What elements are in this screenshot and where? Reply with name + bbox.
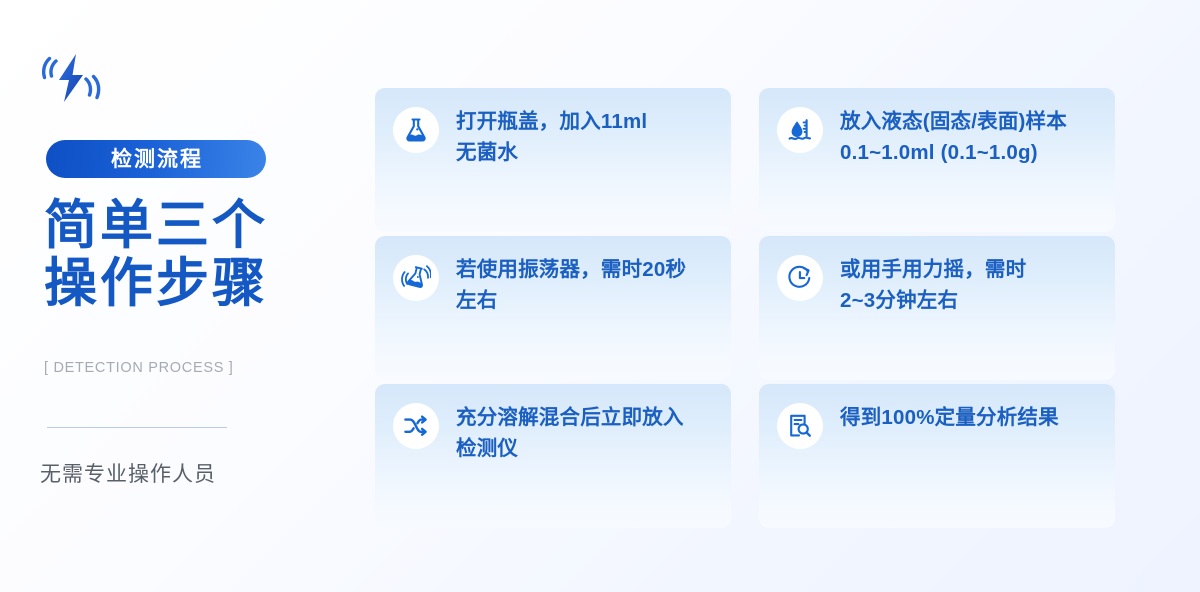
section-badge: 检测流程 (46, 140, 266, 178)
process-card-text: 打开瓶盖，加入11ml 无菌水 (456, 105, 647, 168)
water-drop-scale-icon (777, 107, 823, 153)
left-panel: 检测流程 简单三个 操作步骤 [ DETECTION PROCESS ] 无需专… (0, 0, 355, 592)
process-card-text-line: 得到100%定量分析结果 (840, 402, 1059, 433)
process-card-text-line: 若使用振荡器，需时20秒 (456, 254, 686, 285)
process-card[interactable]: 或用手用力摇，需时 2~3分钟左右 (759, 236, 1115, 380)
process-card[interactable]: 打开瓶盖，加入11ml 无菌水 (375, 88, 731, 232)
page-title-line-2: 操作步骤 (44, 255, 344, 313)
process-card-text: 若使用振荡器，需时20秒 左右 (456, 253, 686, 316)
shuffle-mix-icon (393, 403, 439, 449)
process-card-text-line: 检测仪 (456, 433, 684, 464)
process-card[interactable]: 放入液态(固态/表面)样本 0.1~1.0ml (0.1~1.0g) (759, 88, 1115, 232)
infographic-page: 检测流程 简单三个 操作步骤 [ DETECTION PROCESS ] 无需专… (0, 0, 1200, 592)
process-card[interactable]: 若使用振荡器，需时20秒 左右 (375, 236, 731, 380)
lightning-signal-icon (40, 48, 104, 110)
page-title: 简单三个 操作步骤 (44, 197, 344, 313)
process-card-text: 充分溶解混合后立即放入 检测仪 (456, 401, 684, 464)
process-card-text: 放入液态(固态/表面)样本 0.1~1.0ml (0.1~1.0g) (840, 105, 1067, 168)
clock-timer-icon (777, 255, 823, 301)
process-card-grid: 打开瓶盖，加入11ml 无菌水 (375, 88, 1115, 528)
page-title-line-1: 简单三个 (44, 197, 344, 255)
process-card-text: 得到100%定量分析结果 (840, 401, 1059, 433)
process-card-text-line: 左右 (456, 285, 686, 316)
footnote-text: 无需专业操作人员 (40, 458, 216, 488)
divider (47, 427, 227, 428)
flask-icon (393, 107, 439, 153)
process-card[interactable]: 充分溶解混合后立即放入 检测仪 (375, 384, 731, 528)
process-card[interactable]: 得到100%定量分析结果 (759, 384, 1115, 528)
process-card-text-line: 打开瓶盖，加入11ml (456, 106, 647, 137)
process-card-text-line: 或用手用力摇，需时 (840, 254, 1026, 285)
document-search-icon (777, 403, 823, 449)
process-card-text-line: 无菌水 (456, 137, 647, 168)
shaking-flask-icon (393, 255, 439, 301)
process-card-text: 或用手用力摇，需时 2~3分钟左右 (840, 253, 1026, 316)
section-badge-label: 检测流程 (109, 149, 203, 170)
page-subtitle: [ DETECTION PROCESS ] (44, 360, 234, 376)
process-card-text-line: 0.1~1.0ml (0.1~1.0g) (840, 137, 1067, 168)
process-card-text-line: 放入液态(固态/表面)样本 (840, 106, 1067, 137)
process-card-text-line: 2~3分钟左右 (840, 285, 1026, 316)
process-card-text-line: 充分溶解混合后立即放入 (456, 402, 684, 433)
